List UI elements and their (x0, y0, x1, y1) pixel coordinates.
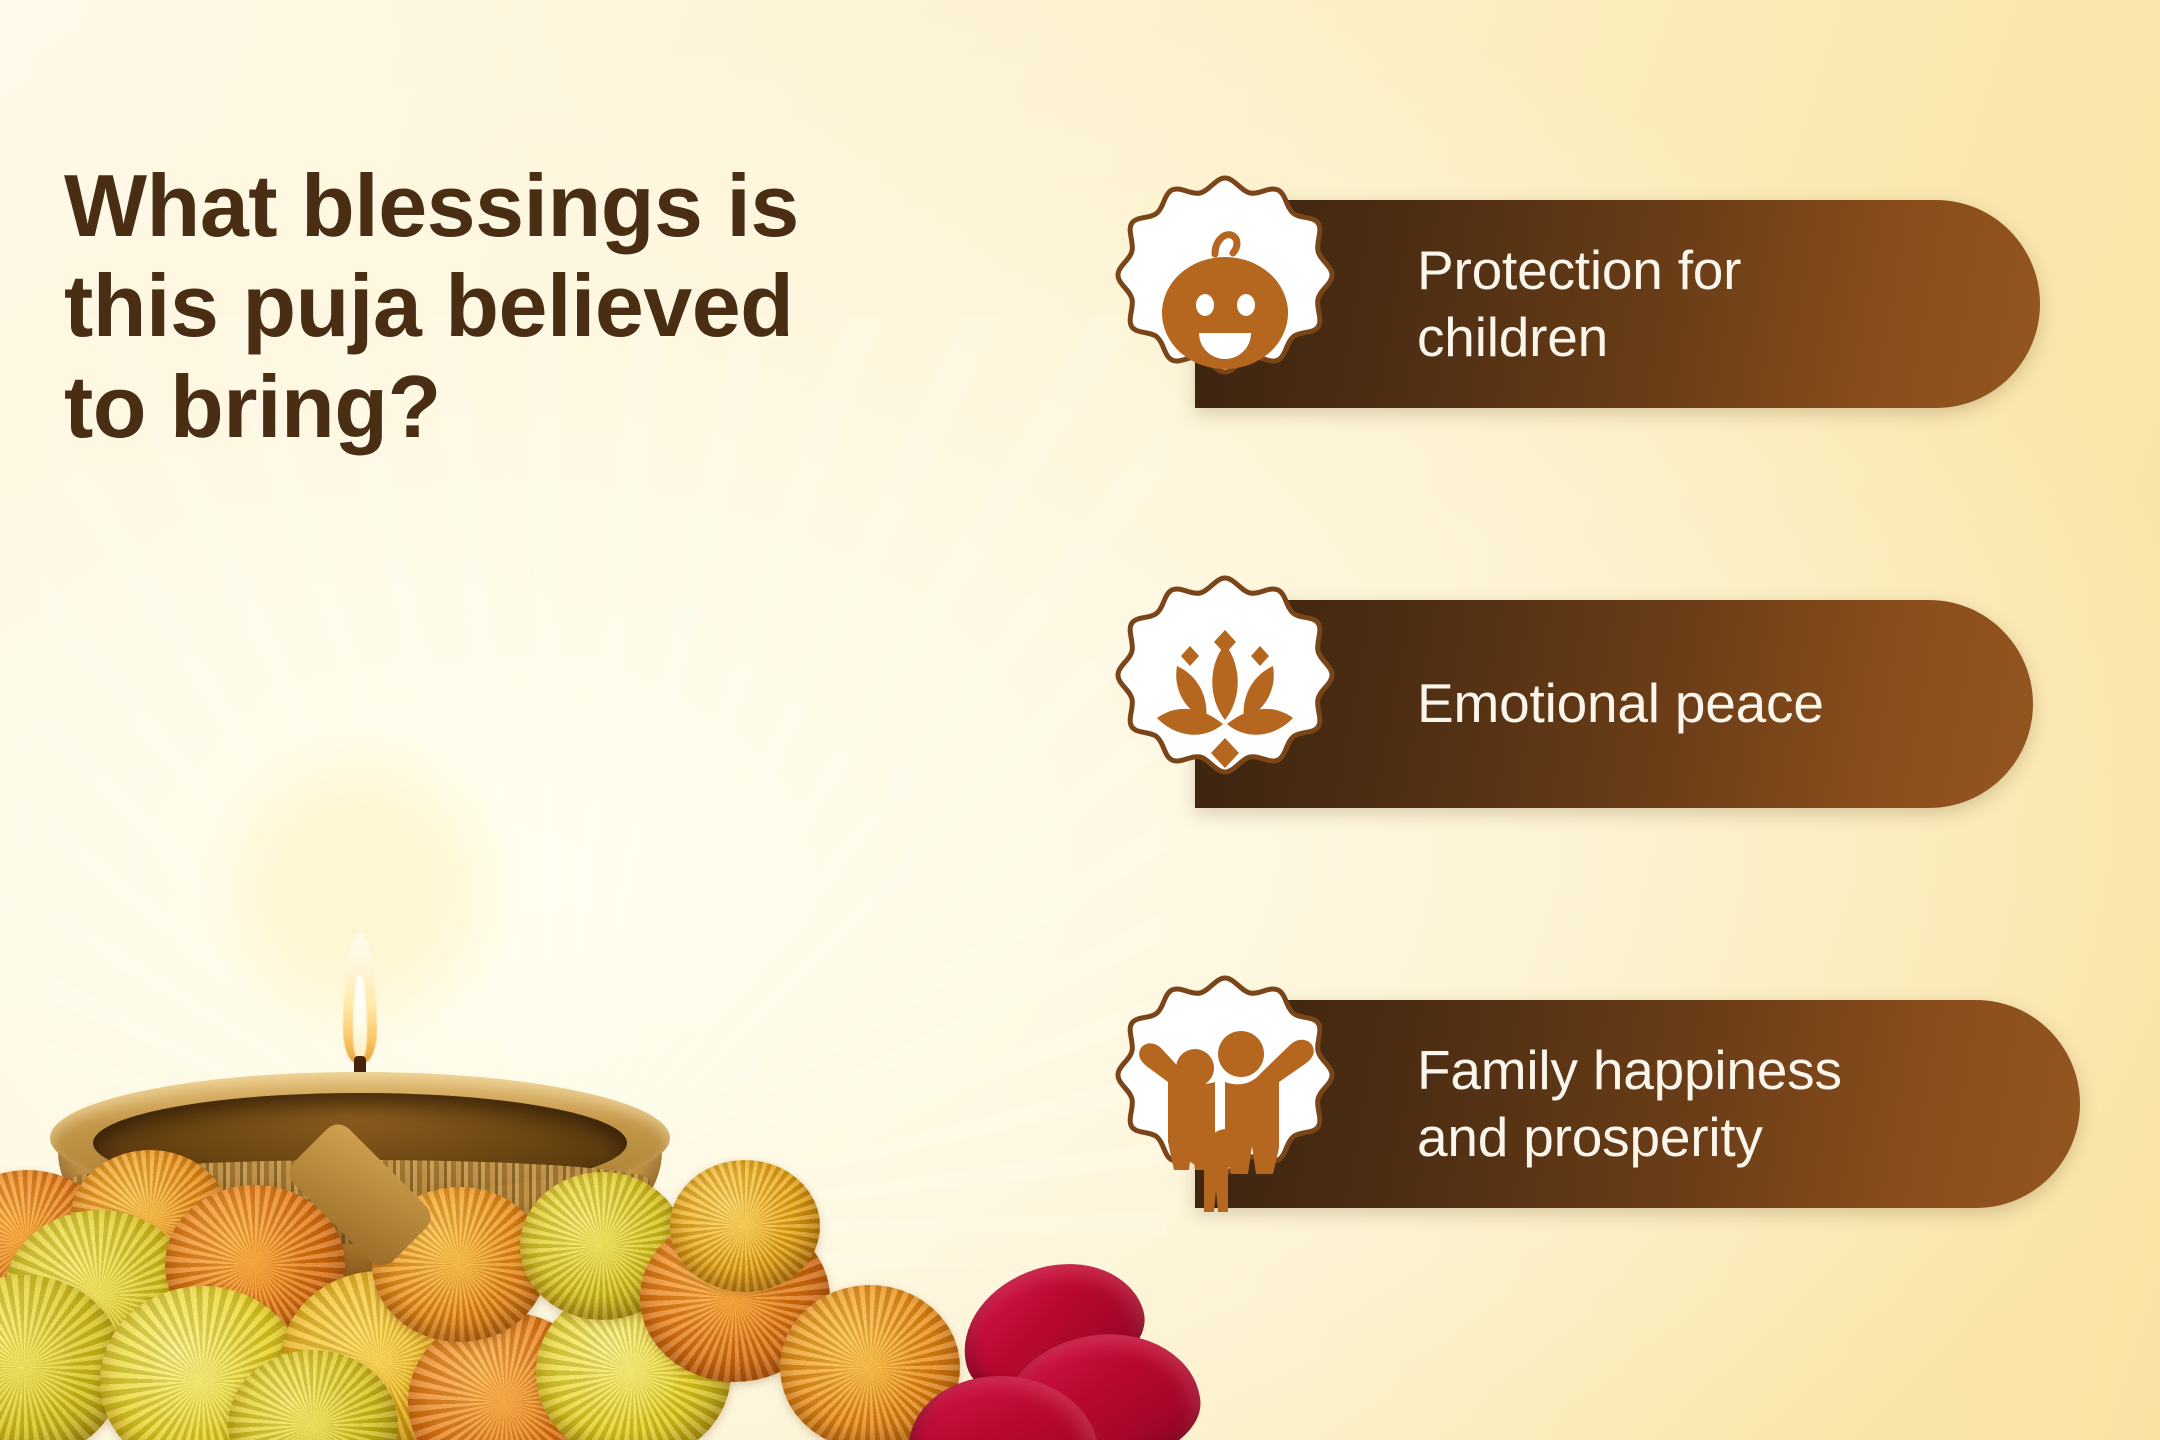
question-line-2: this puja believed (64, 256, 1064, 356)
quiz-card-canvas: What blessings is this puja believed to … (0, 0, 2160, 1440)
answer-badge (1095, 972, 1355, 1232)
answer-badge (1095, 572, 1355, 832)
answer-label: Protection for children (1417, 237, 1741, 371)
marigold-bloom (670, 1160, 820, 1292)
answer-label-line-2: children (1417, 304, 1741, 371)
question-line-3: to bring? (64, 357, 1064, 457)
answer-label-line-2: and prosperity (1417, 1104, 1842, 1171)
answer-label-line-1: Emotional peace (1417, 670, 1824, 737)
answer-list: Protection for children (1085, 0, 2160, 1440)
answer-label: Family happiness and prosperity (1417, 1037, 1842, 1171)
answer-label: Emotional peace (1417, 670, 1824, 737)
diya-photo (0, 820, 980, 1440)
page-title: What blessings is this puja believed to … (64, 156, 1064, 457)
answer-label-line-1: Family happiness (1417, 1037, 1842, 1104)
answer-item-family-happiness-and-prosperity[interactable]: Family happiness and prosperity (1085, 972, 2160, 1232)
answer-item-protection-for-children[interactable]: Protection for children (1085, 172, 2160, 432)
question-line-1: What blessings is (64, 156, 1064, 256)
answer-item-emotional-peace[interactable]: Emotional peace (1085, 572, 2160, 832)
marigold-garland (0, 1140, 980, 1440)
answer-badge (1095, 172, 1355, 432)
answer-label-line-1: Protection for (1417, 237, 1741, 304)
